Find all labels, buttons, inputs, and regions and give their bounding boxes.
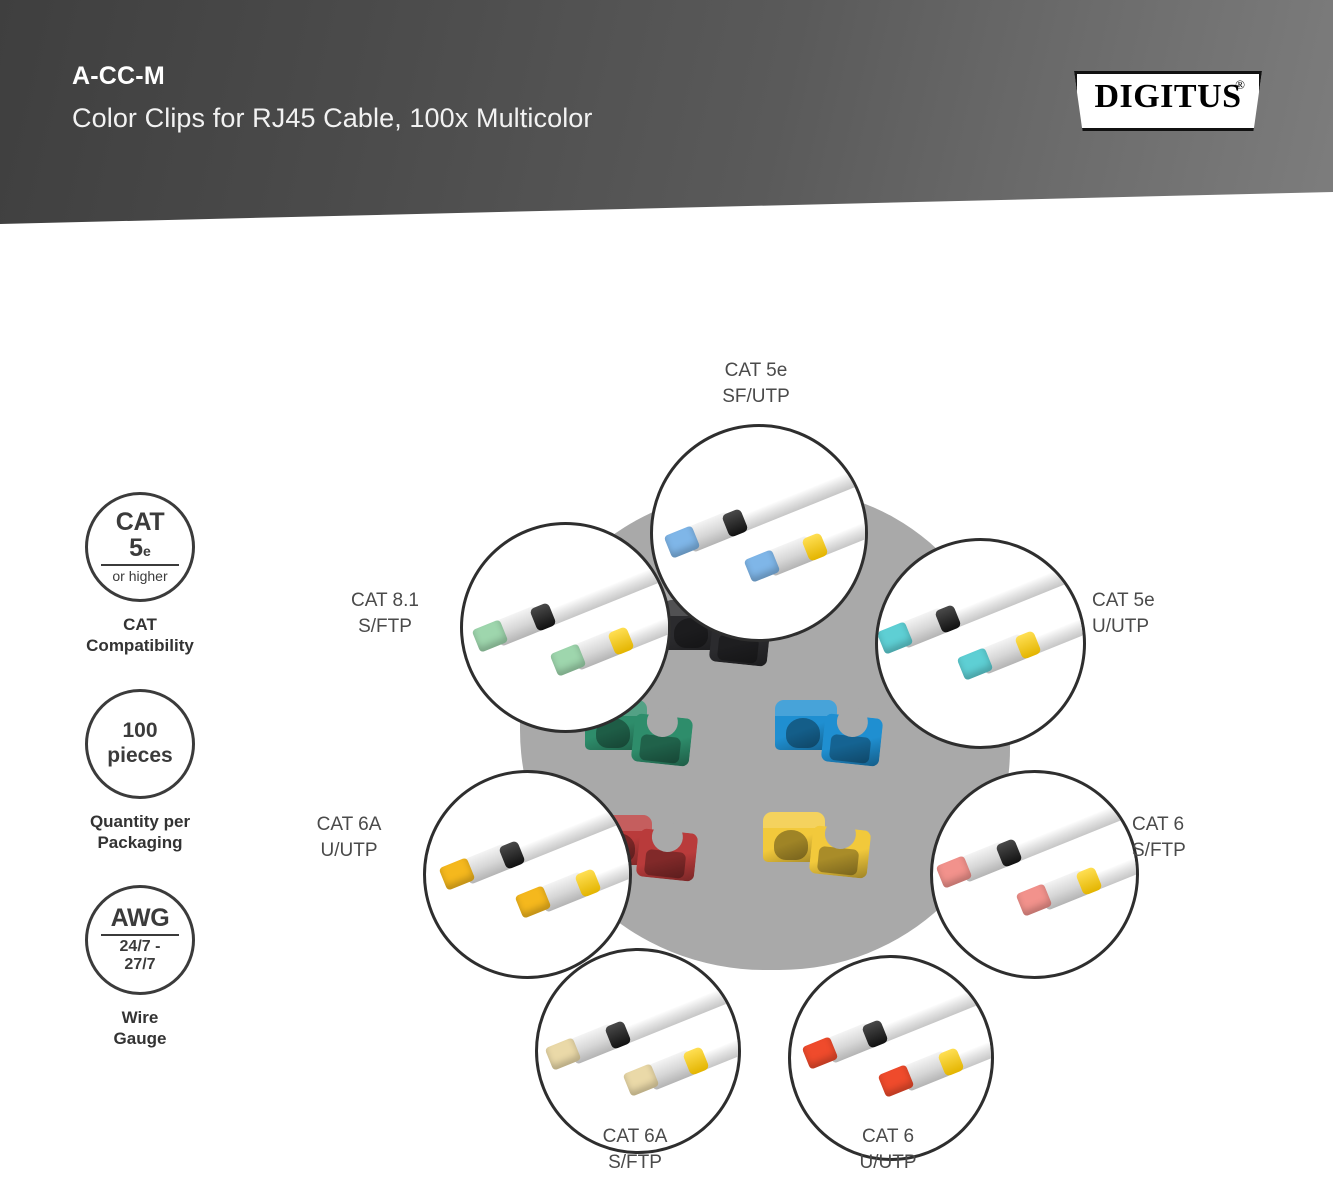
digitus-logo: DIGITUS ® xyxy=(1074,71,1262,131)
callout-cat: CAT 5e xyxy=(676,358,836,384)
callout-label-cat81-sftp: CAT 8.1 S/FTP xyxy=(320,588,450,639)
badge-caption: Quantity per Packaging xyxy=(60,811,220,854)
callout-shield: S/FTP xyxy=(555,1150,715,1176)
badge-caption-line-2: Packaging xyxy=(60,832,220,853)
registered-trademark-icon: ® xyxy=(1235,77,1245,93)
callout-photo xyxy=(463,525,668,730)
callout-cat5e-sfutp xyxy=(650,424,868,642)
badge-divider xyxy=(101,564,179,566)
callout-label-cat5e-sfutp: CAT 5e SF/UTP xyxy=(676,358,836,409)
badge-divider xyxy=(101,934,179,936)
badge-cat-compatibility: CAT 5e or higher CAT Compatibility xyxy=(60,492,220,657)
callout-label-cat6a-uutp: CAT 6A U/UTP xyxy=(284,812,414,863)
callout-cat81-sftp xyxy=(460,522,671,733)
callout-cat: CAT 6 xyxy=(1132,812,1262,838)
badge-line-2: 24/7 - xyxy=(120,938,161,956)
callout-shield: S/FTP xyxy=(1132,838,1262,864)
callout-shield: SF/UTP xyxy=(676,384,836,410)
page-title: A-CC-M xyxy=(72,62,165,91)
badge-line-2: 5e xyxy=(129,535,151,561)
callout-cat5e-uutp xyxy=(875,538,1086,749)
badge-circle: CAT 5e or higher xyxy=(85,492,195,602)
badge-line-1: CAT xyxy=(116,510,165,535)
badge-caption: CAT Compatibility xyxy=(60,614,220,657)
callout-label-cat6-sftp: CAT 6 S/FTP xyxy=(1132,812,1262,863)
badge-caption-line-1: Wire xyxy=(60,1007,220,1028)
badge-line-3: or higher xyxy=(112,568,167,584)
callout-cat: CAT 6A xyxy=(284,812,414,838)
clip-hook xyxy=(636,828,699,882)
clip-hook xyxy=(821,713,884,767)
callout-label-cat6a-sftp: CAT 6A S/FTP xyxy=(555,1124,715,1175)
callout-photo xyxy=(933,773,1136,976)
badge-wire-gauge: AWG 24/7 - 27/7 Wire Gauge xyxy=(60,885,220,1050)
callout-photo xyxy=(653,427,865,639)
callout-shield: U/UTP xyxy=(808,1150,968,1176)
badge-caption-line-1: Quantity per xyxy=(60,811,220,832)
badge-caption-line-2: Compatibility xyxy=(60,635,220,656)
callout-photo xyxy=(878,541,1083,746)
badge-line-1: AWG xyxy=(111,906,170,931)
callout-shield: U/UTP xyxy=(284,838,414,864)
callout-photo xyxy=(426,773,629,976)
badge-caption-line-2: Gauge xyxy=(60,1028,220,1049)
badge-quantity-per-packaging: 100 pieces Quantity per Packaging xyxy=(60,689,220,854)
badge-line-3: 27/7 xyxy=(124,956,155,974)
badge-line-2: pieces xyxy=(107,744,172,768)
callout-cat6a-uutp xyxy=(423,770,632,979)
badge-circle: 100 pieces xyxy=(85,689,195,799)
page-subtitle: Color Clips for RJ45 Cable, 100x Multico… xyxy=(72,103,593,134)
callout-cat6-sftp xyxy=(930,770,1139,979)
badge-line-1: 100 xyxy=(122,719,157,743)
callout-photo xyxy=(538,951,738,1151)
logo-wordmark: DIGITUS xyxy=(1074,78,1262,116)
callout-cat: CAT 6A xyxy=(555,1124,715,1150)
callout-label-cat6-uutp: CAT 6 U/UTP xyxy=(808,1124,968,1175)
callout-label-cat5e-uutp: CAT 5e U/UTP xyxy=(1092,588,1232,639)
callout-shield: U/UTP xyxy=(1092,614,1232,640)
callout-cat: CAT 6 xyxy=(808,1124,968,1150)
badge-caption: Wire Gauge xyxy=(60,1007,220,1050)
clip-hook xyxy=(809,825,872,879)
callout-cat: CAT 5e xyxy=(1092,588,1232,614)
product-showcase: CAT 5e SF/UTP CAT 8.1 S/FTP xyxy=(280,300,1290,1180)
feature-badges: CAT 5e or higher CAT Compatibility 100 p… xyxy=(60,492,220,1072)
badge-circle: AWG 24/7 - 27/7 xyxy=(85,885,195,995)
callout-shield: S/FTP xyxy=(320,614,450,640)
badge-caption-line-1: CAT xyxy=(60,614,220,635)
callout-cat: CAT 8.1 xyxy=(320,588,450,614)
